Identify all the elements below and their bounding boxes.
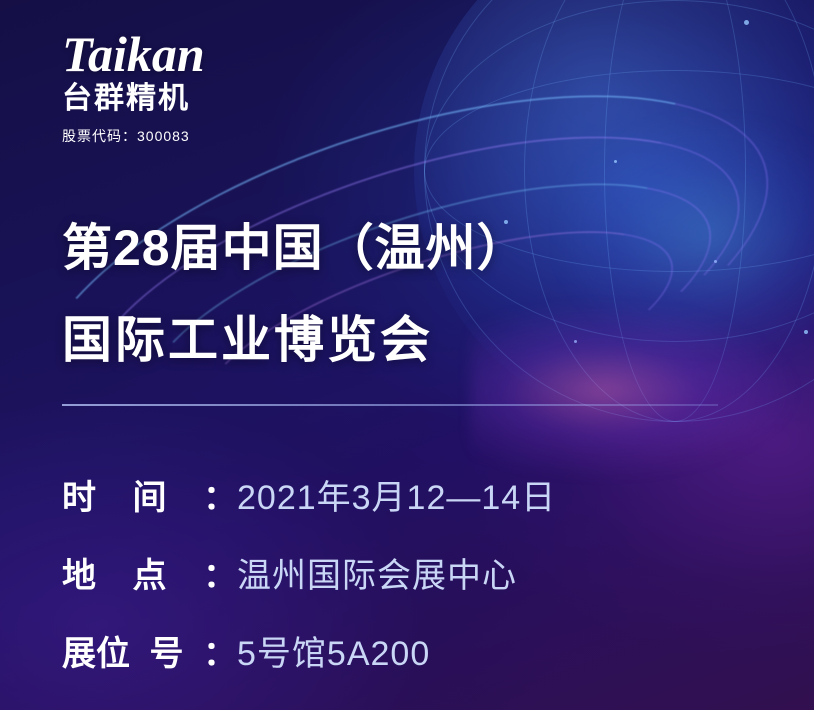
info-value-booth: 5号馆5A200	[237, 626, 430, 675]
info-label-time-b: 间	[133, 470, 167, 519]
magenta-glow-decoration	[470, 300, 800, 480]
info-label-booth-b: 号	[150, 626, 184, 675]
info-row-booth: 展位 号 ： 5号馆5A200	[62, 611, 762, 689]
stock-code-text: 股票代码：300083	[62, 126, 205, 146]
info-label-place-colon: ：	[203, 548, 237, 597]
exhibition-poster: Taikan 台群精机 股票代码：300083 第28届中国（温州） 国际工业博…	[0, 0, 814, 710]
logo-latin-text: Taikan	[62, 28, 205, 80]
info-label-time: 时 间 ：	[62, 470, 237, 519]
info-label-booth-colon: ：	[203, 626, 237, 675]
logo-chinese-text: 台群精机	[62, 82, 205, 116]
poster-title-line-2: 国际工业博览会	[62, 300, 433, 372]
info-label-place-a: 地	[62, 548, 96, 597]
info-value-place: 温州国际会展中心	[237, 548, 517, 597]
event-info-list: 时 间 ： 2021年3月12—14日 地 点 ： 温州国际会展中心 展位 号 …	[62, 455, 762, 689]
info-value-time: 2021年3月12—14日	[237, 470, 556, 519]
horizontal-divider	[62, 404, 718, 406]
info-label-booth: 展位 号 ：	[62, 626, 237, 675]
info-label-time-a: 时	[62, 470, 96, 519]
info-row-time: 时 间 ： 2021年3月12—14日	[62, 455, 762, 533]
info-label-place: 地 点 ：	[62, 548, 237, 597]
info-label-booth-a: 展位	[62, 626, 130, 675]
info-label-place-b: 点	[133, 548, 167, 597]
info-row-place: 地 点 ： 温州国际会展中心	[62, 533, 762, 611]
brand-logo: Taikan 台群精机 股票代码：300083	[62, 28, 205, 146]
poster-title-line-1: 第28届中国（温州）	[62, 208, 528, 280]
info-label-time-colon: ：	[203, 470, 237, 519]
